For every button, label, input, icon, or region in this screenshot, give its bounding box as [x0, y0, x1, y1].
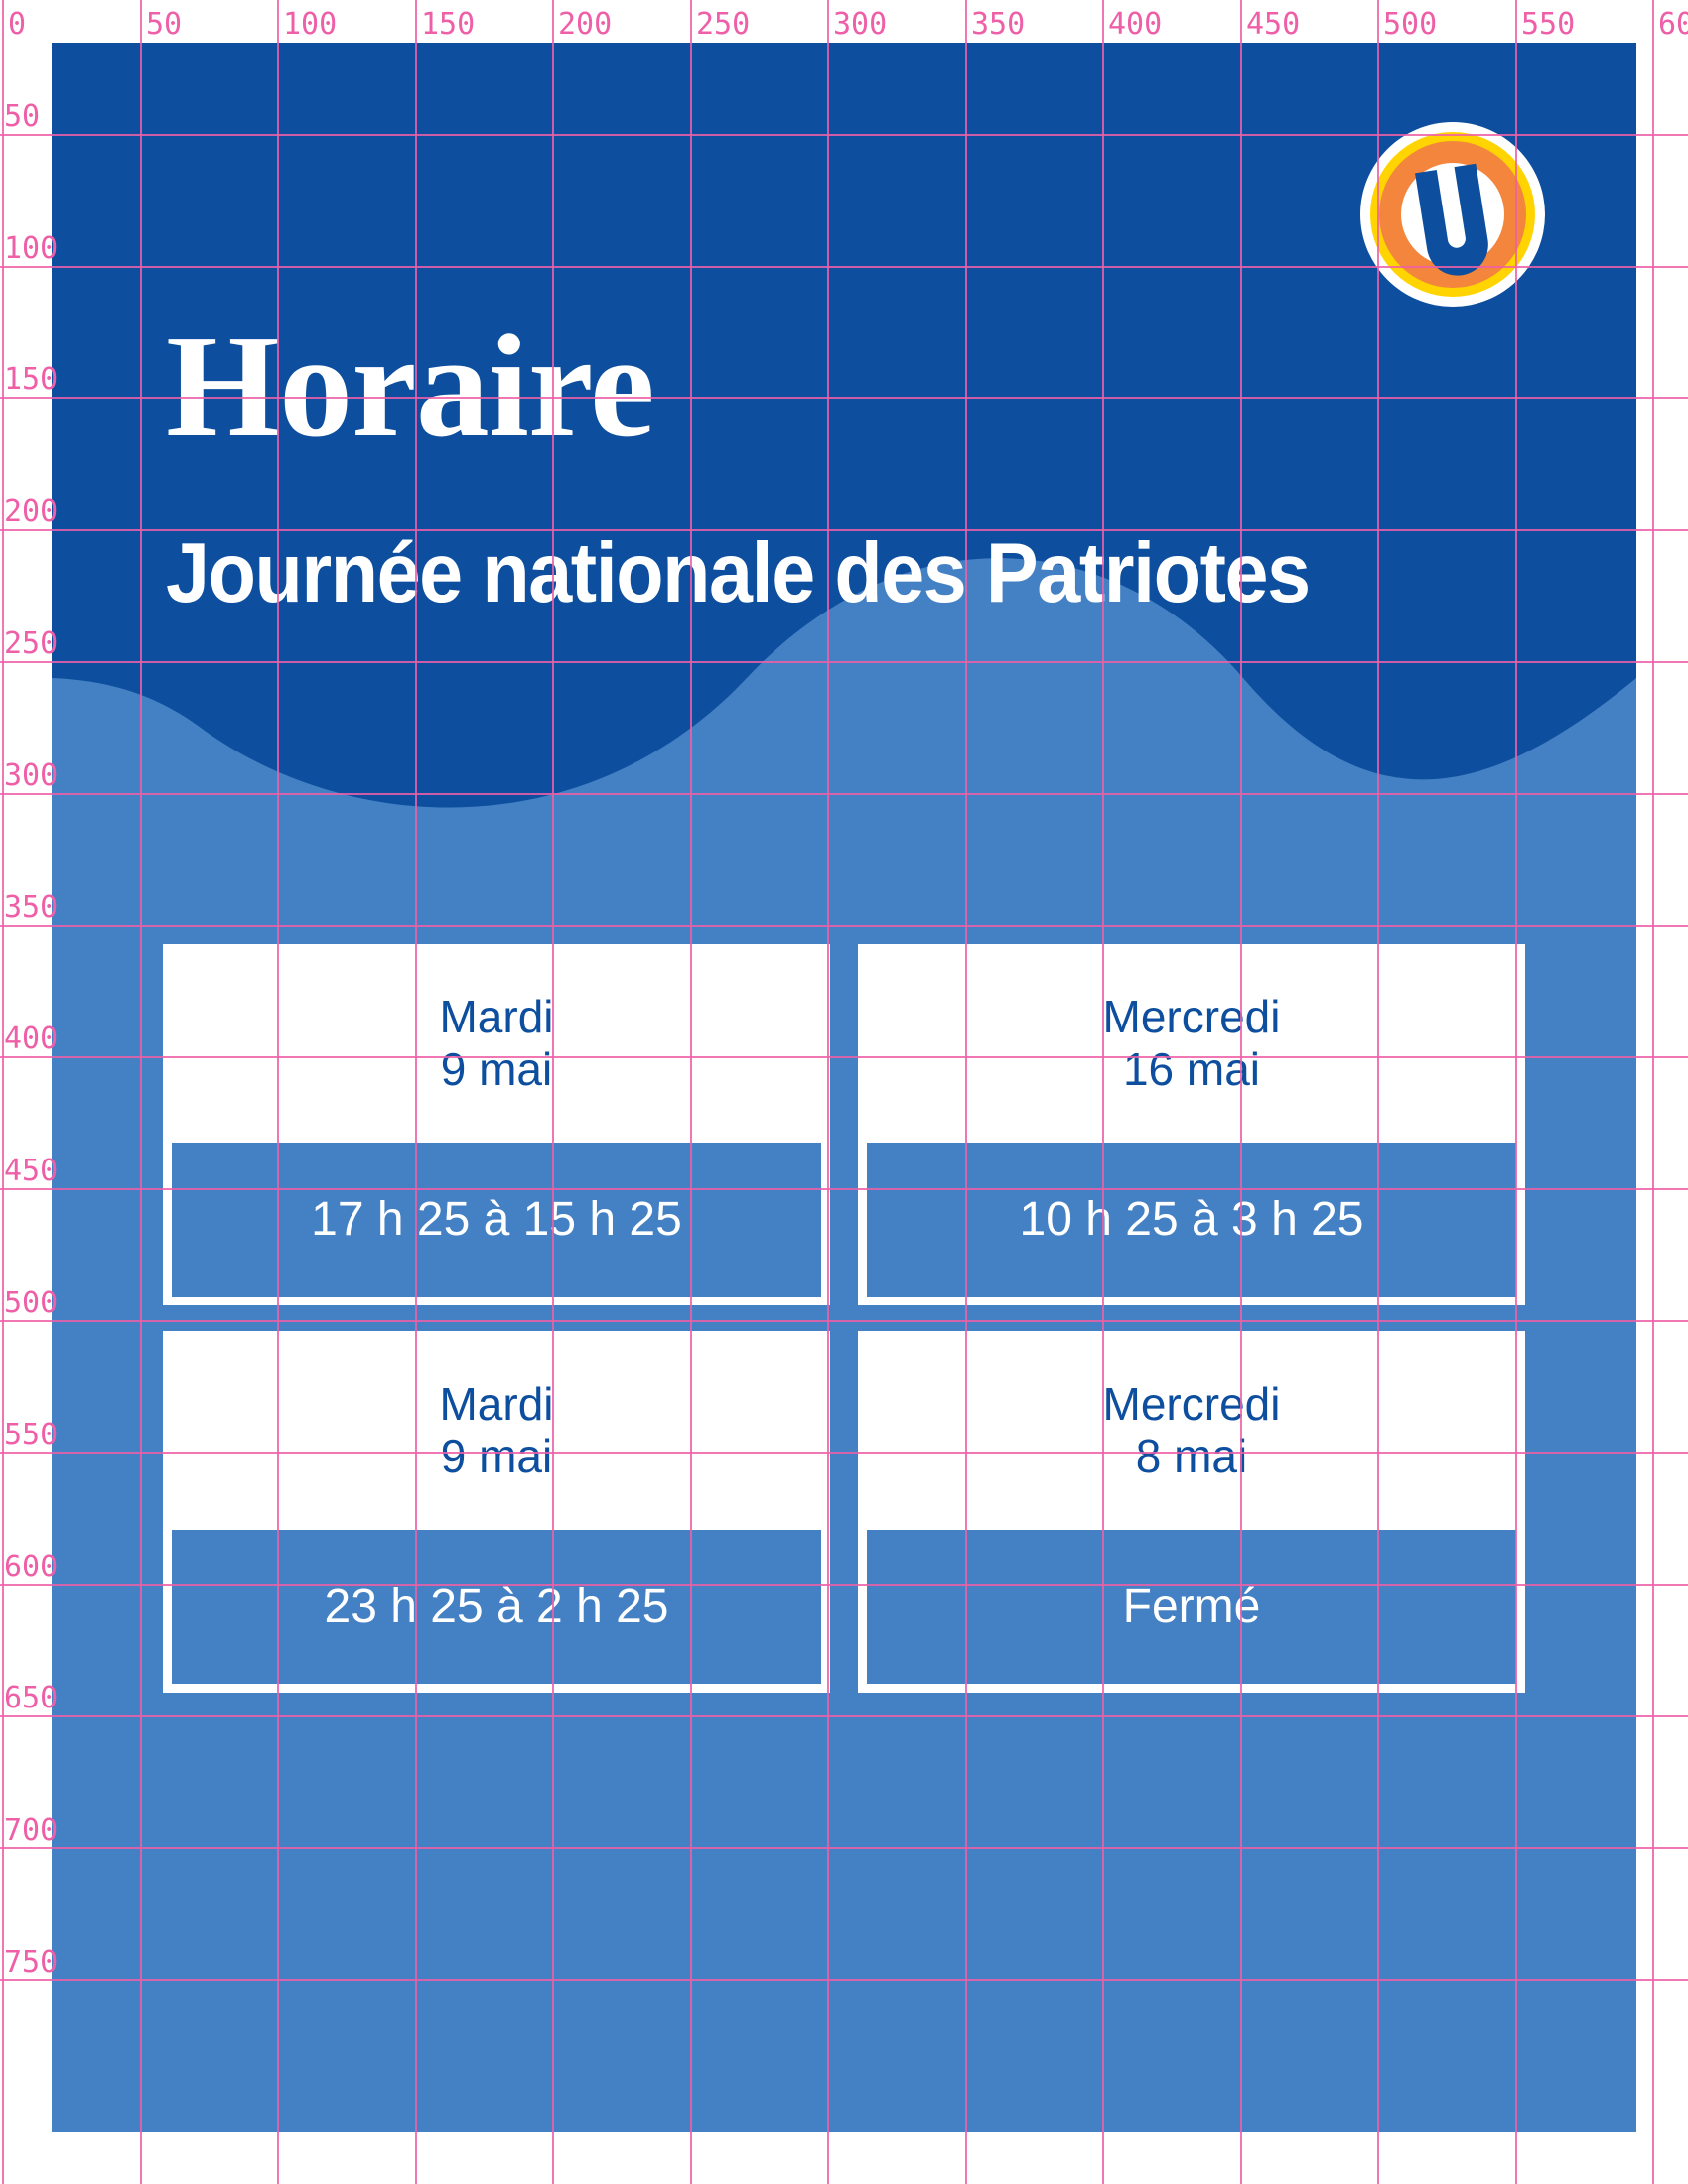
- schedule-card: Mercredi 8 mai Fermé: [858, 1331, 1525, 1693]
- schedule-card-date: 9 mai: [441, 1043, 552, 1096]
- schedule-card-header: Mardi 9 mai: [163, 944, 830, 1143]
- schedule-card: Mardi 9 mai 17 h 25 à 15 h 25: [163, 944, 830, 1305]
- schedule-card: Mardi 9 mai 23 h 25 à 2 h 25: [163, 1331, 830, 1693]
- schedule-card-hours: 23 h 25 à 2 h 25: [172, 1530, 821, 1684]
- schedule-card-header: Mercredi 16 mai: [858, 944, 1525, 1143]
- schedule-card-hours: 17 h 25 à 15 h 25: [172, 1143, 821, 1297]
- schedule-card-day: Mercredi: [1103, 1378, 1281, 1431]
- schedule-card: Mercredi 16 mai 10 h 25 à 3 h 25: [858, 944, 1525, 1305]
- schedule-card-hours: 10 h 25 à 3 h 25: [867, 1143, 1516, 1297]
- schedule-card-header: Mercredi 8 mai: [858, 1331, 1525, 1530]
- poster-artboard: Horaire Journée nationale des Patriotes …: [52, 43, 1636, 2132]
- schedule-card-grid: Mardi 9 mai 17 h 25 à 15 h 25 Mercredi 1…: [163, 944, 1525, 1693]
- schedule-card-body-frame: 17 h 25 à 15 h 25: [163, 1143, 830, 1305]
- schedule-card-body-frame: 23 h 25 à 2 h 25: [163, 1530, 830, 1693]
- poster-header: Horaire Journée nationale des Patriotes: [52, 43, 1636, 867]
- schedule-card-hours: Fermé: [867, 1530, 1516, 1684]
- header-content: Horaire Journée nationale des Patriotes: [52, 43, 1636, 738]
- schedule-card-body-frame: 10 h 25 à 3 h 25: [858, 1143, 1525, 1305]
- poster-canvas: Horaire Journée nationale des Patriotes …: [0, 0, 1688, 2184]
- schedule-card-body-frame: Fermé: [858, 1530, 1525, 1693]
- logo-svg: [1358, 120, 1547, 309]
- schedule-card-day: Mardi: [439, 991, 553, 1043]
- uniprix-logo-icon: [1358, 120, 1547, 309]
- schedule-card-date: 16 mai: [1123, 1043, 1260, 1096]
- page-title: Horaire: [166, 313, 654, 460]
- schedule-card-date: 8 mai: [1136, 1431, 1247, 1483]
- schedule-card-date: 9 mai: [441, 1431, 552, 1483]
- schedule-card-day: Mercredi: [1103, 991, 1281, 1043]
- schedule-card-header: Mardi 9 mai: [163, 1331, 830, 1530]
- page-subtitle: Journée nationale des Patriotes: [166, 531, 1310, 615]
- schedule-card-day: Mardi: [439, 1378, 553, 1431]
